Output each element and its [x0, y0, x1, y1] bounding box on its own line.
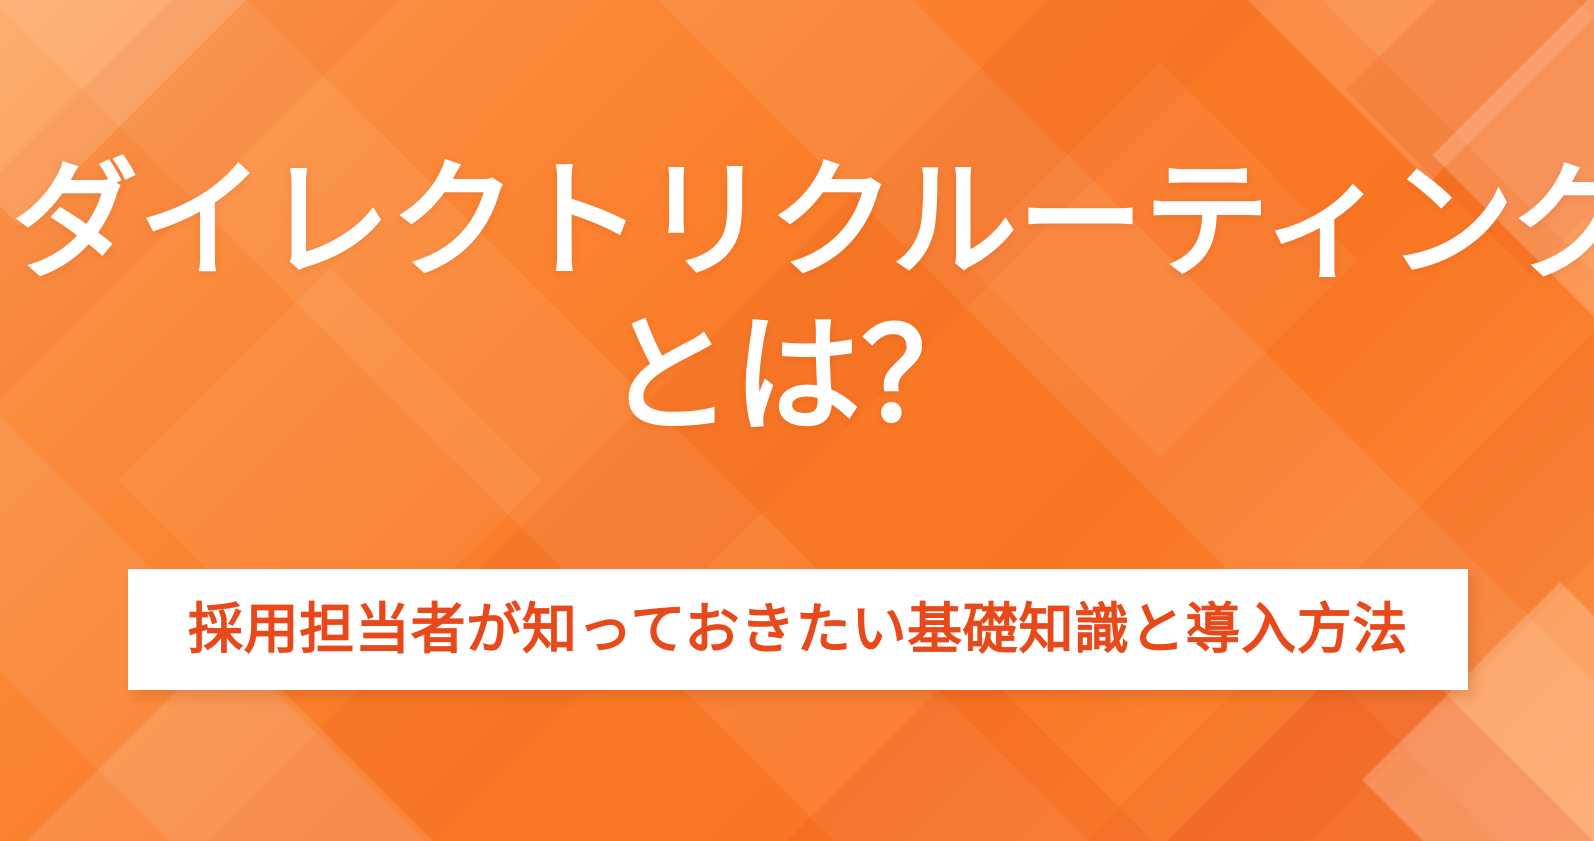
subtitle-panel: 採用担当者が知っておきたい基礎知識と導入方法	[128, 569, 1468, 690]
subtitle-text: 採用担当者が知っておきたい基礎知識と導入方法	[188, 602, 1408, 657]
banner-title: ダイレクトリクルーティング とは？	[0, 150, 1594, 449]
article-eyecatch-banner: ダイレクトリクルーティング とは？ 採用担当者が知っておきたい基礎知識と導入方法	[0, 0, 1594, 841]
banner-content: ダイレクトリクルーティング とは？ 採用担当者が知っておきたい基礎知識と導入方法	[0, 0, 1594, 841]
title-line-primary: ダイレクトリクルーティング	[12, 150, 1582, 293]
title-line-secondary: とは？	[0, 305, 1594, 448]
